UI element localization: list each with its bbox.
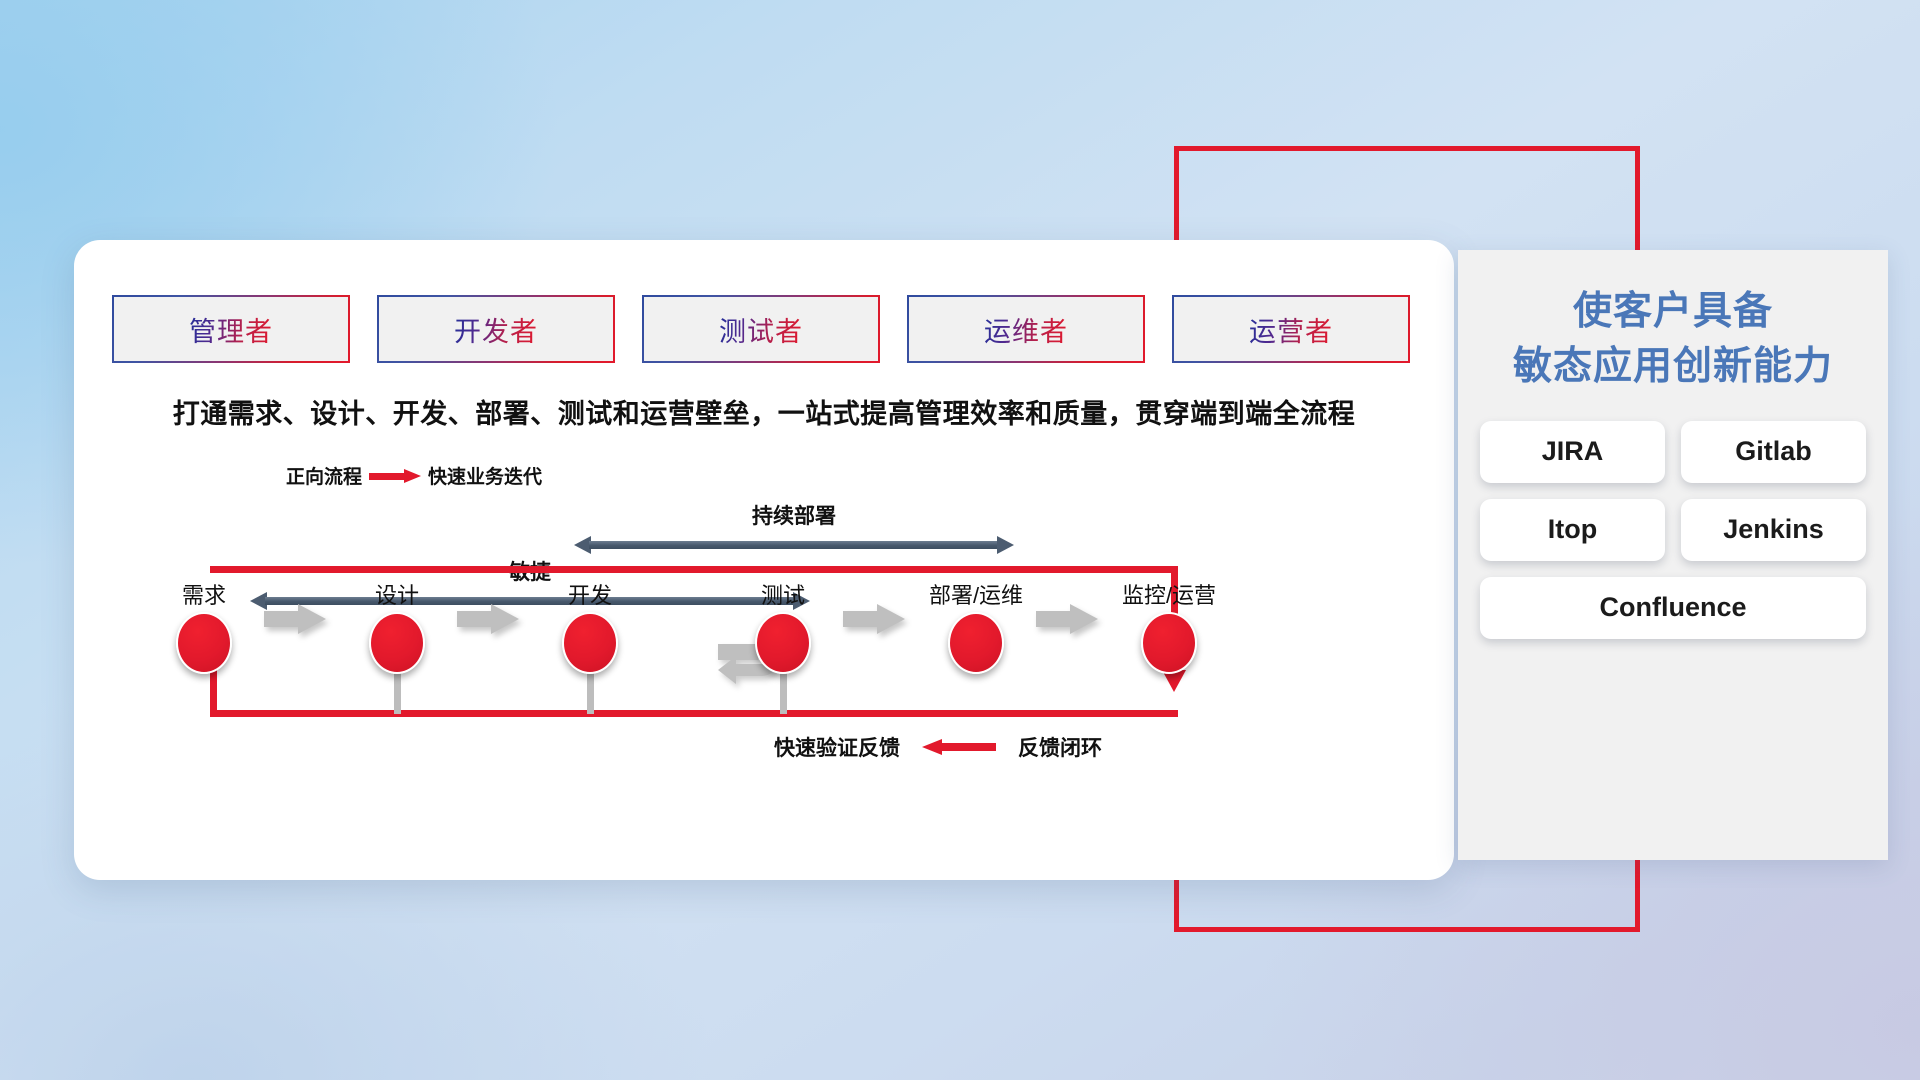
feedback-right-label: 反馈闭环: [1018, 732, 1102, 762]
feedback-loop-legend: 快速验证反馈 反馈闭环: [774, 732, 1102, 762]
tool-tile-gitlab[interactable]: Gitlab: [1681, 421, 1866, 483]
slide-canvas: 管理者 开发者 测试者 运维者 运营者: [0, 0, 1920, 1080]
feedback-left-label: 快速验证反馈: [774, 732, 900, 762]
pipeline-node-dot: [755, 612, 811, 674]
tools-panel-heading: 使客户具备 敏态应用创新能力: [1458, 284, 1888, 395]
pipeline-node-dot: [176, 612, 232, 674]
main-white-card: 管理者 开发者 测试者 运维者 运营者: [74, 240, 1454, 880]
pipeline-node-label: 监控/运营: [1071, 578, 1267, 610]
feedback-stub-develop: [587, 670, 594, 714]
pipeline-node-dot: [369, 612, 425, 674]
pipeline-node-label: 开发: [492, 578, 688, 610]
tool-tile-jenkins[interactable]: Jenkins: [1681, 499, 1866, 561]
tool-tile-confluence[interactable]: Confluence: [1480, 577, 1866, 639]
pipeline-node-dot: [562, 612, 618, 674]
tool-tile-itop[interactable]: Itop: [1480, 499, 1665, 561]
tools-heading-line2: 敏态应用创新能力: [1458, 339, 1888, 394]
tools-grid: JIRA Gitlab Itop Jenkins Confluence: [1480, 421, 1866, 639]
red-arrow-left-icon: [922, 739, 996, 755]
pipeline: 需求 设计 开发 测试: [74, 240, 1454, 880]
pipeline-node-dot: [1141, 612, 1197, 674]
loop-line-bottom: [210, 710, 1178, 717]
tool-tile-jira[interactable]: JIRA: [1480, 421, 1665, 483]
pipeline-node-dot: [948, 612, 1004, 674]
tools-panel: 使客户具备 敏态应用创新能力 JIRA Gitlab Itop Jenkins …: [1458, 250, 1888, 860]
loop-line-top: [210, 566, 1178, 573]
tools-heading-line1: 使客户具备: [1458, 284, 1888, 339]
pipeline-node-develop[interactable]: 开发: [492, 578, 688, 674]
feedback-stub-design: [394, 670, 401, 714]
pipeline-node-monitor-operations[interactable]: 监控/运营: [1071, 578, 1267, 674]
